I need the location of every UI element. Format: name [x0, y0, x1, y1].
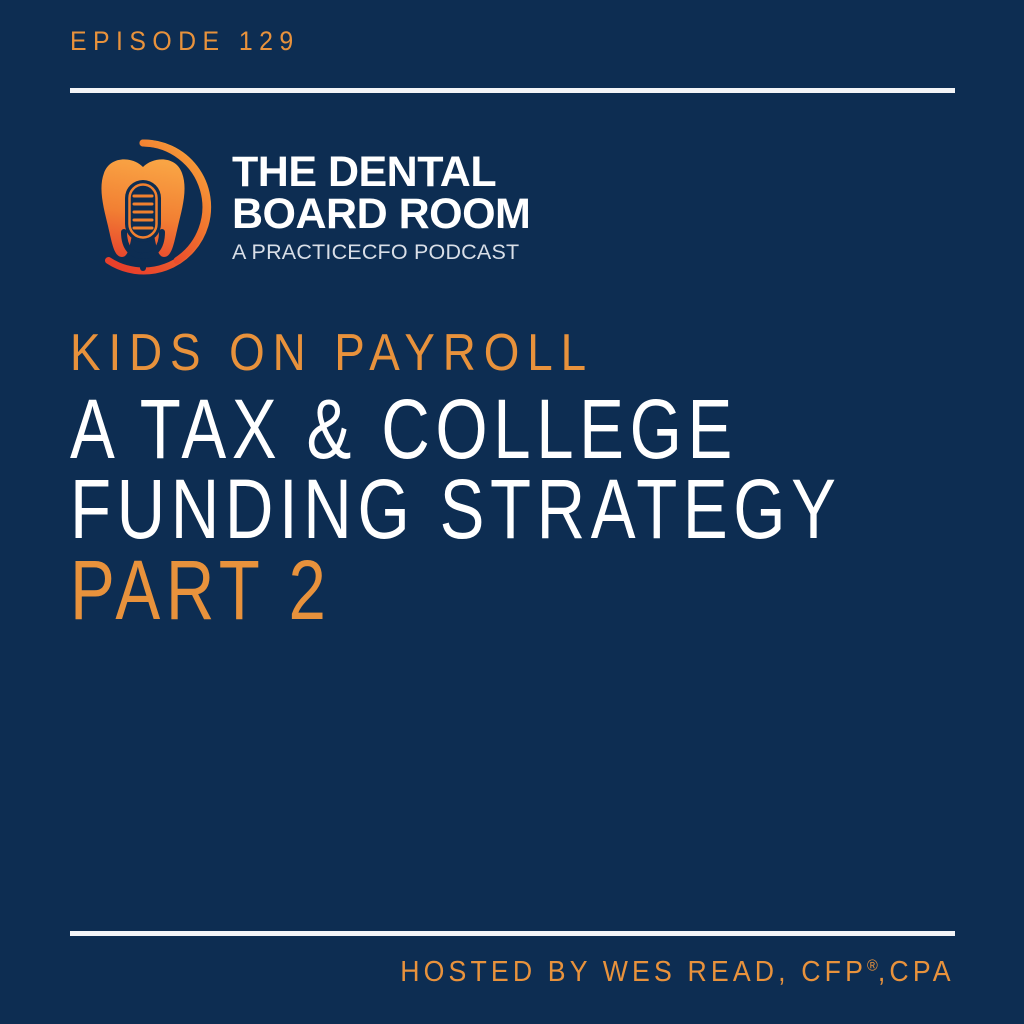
episode-title-line2: FUNDING STRATEGY	[70, 467, 790, 553]
episode-part-label: PART 2	[70, 548, 790, 634]
tooth-microphone-logo-icon	[72, 136, 214, 278]
episode-title-line1: A TAX & COLLEGE	[70, 387, 790, 473]
title-block: KIDS ON PAYROLL A TAX & COLLEGE FUNDING …	[70, 326, 970, 634]
logo-lockup: THE DENTAL BOARD ROOM A PRACTICECFO PODC…	[72, 136, 530, 278]
logo-wordmark-line1: THE DENTAL	[232, 152, 530, 194]
host-credit: HOSTED BY WES READ, CFP®,CPA	[400, 958, 955, 987]
podcast-cover-art: EPISODE 129	[0, 0, 1024, 1024]
divider-bottom	[70, 931, 955, 936]
logo-tagline: A PRACTICECFO PODCAST	[232, 236, 530, 268]
host-credit-suffix: ,CPA	[878, 956, 955, 988]
episode-kicker: KIDS ON PAYROLL	[70, 326, 862, 381]
logo-wordmark-line2: BOARD ROOM	[232, 194, 530, 236]
divider-top	[70, 88, 955, 93]
host-credit-prefix: HOSTED BY WES READ, CFP	[400, 956, 867, 988]
episode-label: EPISODE 129	[70, 28, 300, 55]
logo-wordmark: THE DENTAL BOARD ROOM A PRACTICECFO PODC…	[232, 146, 530, 268]
registered-trademark-symbol: ®	[867, 957, 878, 974]
